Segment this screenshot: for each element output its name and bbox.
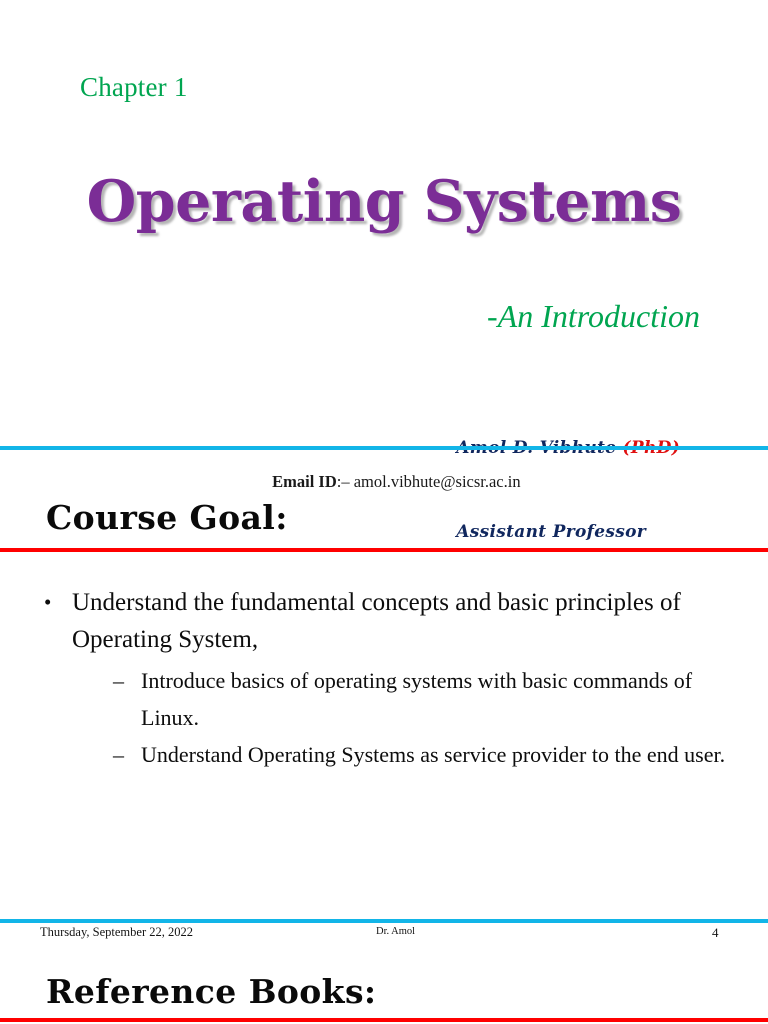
section-heading-course-goal: Course Goal:: [46, 498, 288, 537]
deck-subtitle: -An Introduction: [0, 298, 700, 335]
list-item: • Understand the fundamental concepts an…: [40, 584, 740, 773]
email-label: Email ID: [272, 472, 337, 491]
list-item: – Understand Operating Systems as servic…: [113, 736, 740, 773]
heading-underline-red: [0, 548, 768, 552]
footer-date: Thursday, September 22, 2022: [40, 925, 193, 940]
list-item: – Introduce basics of operating systems …: [113, 662, 740, 736]
list-item-text: Introduce basics of operating systems wi…: [141, 668, 692, 730]
chapter-label: Chapter 1: [80, 72, 188, 103]
footer-divider-cyan: [0, 919, 768, 923]
bullet-marker-icon: •: [44, 584, 51, 621]
email-address[interactable]: :– amol.vibhute@sicsr.ac.in: [337, 472, 521, 491]
dash-marker-icon: –: [113, 736, 124, 773]
sub-bullet-list: – Introduce basics of operating systems …: [72, 662, 740, 773]
list-item-text: Understand Operating Systems as service …: [141, 742, 725, 767]
heading-underline-red: [0, 1018, 768, 1022]
slide-divider-cyan-top: [0, 446, 768, 450]
document-page: Chapter 1 Operating Systems -An Introduc…: [0, 0, 768, 1024]
section-heading-reference-books: Reference Books:: [46, 972, 377, 1011]
author-role: Assistant Professor: [456, 518, 680, 546]
course-goal-bullet-list: • Understand the fundamental concepts an…: [40, 584, 740, 773]
footer-author: Dr. Amol: [376, 926, 415, 937]
footer-page-number: 4: [712, 925, 719, 941]
slide-footer: Thursday, September 22, 2022 Dr. Amol 4: [0, 925, 768, 947]
list-item-text: Understand the fundamental concepts and …: [72, 589, 681, 653]
dash-marker-icon: –: [113, 662, 124, 699]
page-title: Operating Systems: [0, 168, 768, 235]
